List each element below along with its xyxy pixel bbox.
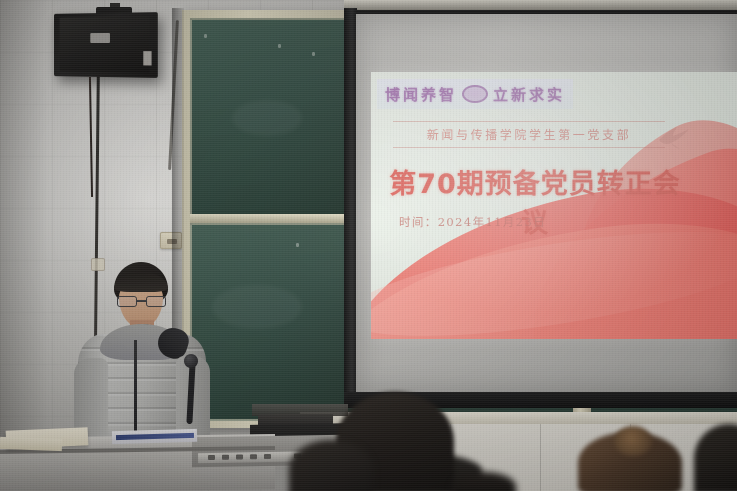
audience-member-head bbox=[289, 440, 373, 491]
chalk-speck bbox=[278, 44, 281, 48]
slide-subtitle: 新闻与传播学院学生第一党支部 bbox=[393, 121, 665, 148]
wall-speaker bbox=[52, 7, 160, 85]
blackboard-divider bbox=[190, 214, 365, 223]
microphone-icon bbox=[184, 354, 198, 368]
swallow-bird-icon bbox=[657, 124, 691, 150]
audience-hair-bun bbox=[614, 426, 652, 456]
speaker-badge bbox=[90, 33, 110, 43]
screen-roller-casing bbox=[344, 0, 737, 10]
slide-date: 时间：2024年11月23日 bbox=[399, 214, 546, 230]
board-scuff bbox=[212, 285, 302, 329]
classroom-photo-scene: 博闻养智 立新求实 新闻与传播学院学生第一党支部 第70期预备党员转正会议 时间… bbox=[0, 0, 737, 491]
speaker-cabinet bbox=[54, 12, 158, 78]
board-scuff bbox=[232, 100, 302, 136]
projected-slide: 博闻养智 立新求实 新闻与传播学院学生第一党支部 第70期预备党员转正会议 时间… bbox=[371, 72, 737, 339]
chalk-speck bbox=[312, 52, 315, 56]
blackboard-panel-bottom bbox=[190, 223, 365, 421]
blackboard-inner bbox=[190, 18, 365, 421]
speaker-grille bbox=[60, 16, 150, 72]
paper-stack bbox=[0, 437, 62, 451]
blackboard-panel-top bbox=[190, 18, 365, 216]
chalk-speck bbox=[296, 243, 299, 247]
speaker-side-label bbox=[143, 51, 151, 65]
eyeglasses-icon bbox=[117, 296, 166, 307]
chalk-speck bbox=[204, 34, 207, 38]
slide-text-content: 新闻与传播学院学生第一党支部 第70期预备党员转正会议 时间：2024年11月2… bbox=[371, 72, 737, 339]
